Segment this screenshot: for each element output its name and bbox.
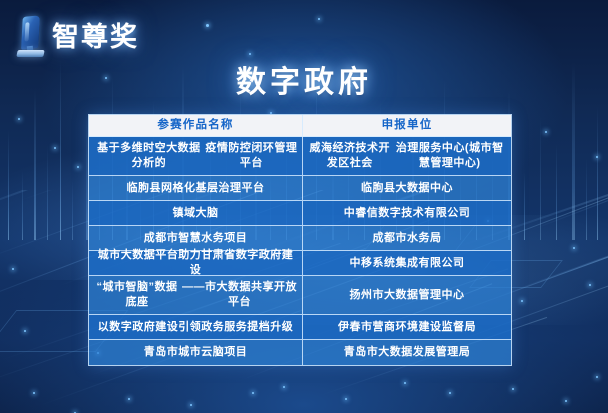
declaring-unit-text: 成都市水务局 [373,231,442,246]
cell-declaring-unit: 成都市水务局 [303,226,511,251]
work-name-text-line2: ——市大数据共享开放平台 [181,280,298,310]
work-name-text: 成都市智慧水务项目 [144,231,248,246]
table-row: 城市大数据平台助力甘肃省数字政府建设中移系统集成有限公司 [89,251,511,276]
brand-logo-text: 智尊奖 [52,24,139,51]
cell-declaring-unit: 中移系统集成有限公司 [303,251,511,276]
page-title: 数字政府 [0,57,608,101]
cell-work-name: 基于多维时空大数据分析的疫情防控闭环管理平台 [89,137,303,176]
cell-work-name: 以数字政府建设引领政务服务提档升级 [89,315,303,340]
cell-work-name: 青岛市城市云脑项目 [89,340,303,365]
declaring-unit-text: 中睿信数字技术有限公司 [344,206,471,221]
table-row: 以数字政府建设引领政务服务提档升级伊春市营商环境建设监督局 [89,315,511,340]
brand-logo: 智尊奖 [14,12,139,62]
cell-declaring-unit: 中睿信数字技术有限公司 [303,201,511,226]
declaring-unit-text: 中移系统集成有限公司 [350,256,465,271]
table-row: “城市智脑”数据底座——市大数据共享开放平台扬州市大数据管理中心 [89,276,511,315]
work-name-text: 青岛市城市云脑项目 [144,345,248,360]
work-name-text: 以数字政府建设引领政务服务提档升级 [98,320,294,335]
declaring-unit-text: 临朐县大数据中心 [361,181,453,196]
cell-declaring-unit: 扬州市大数据管理中心 [303,276,511,315]
table-header-row: 参赛作品名称 申报单位 [89,115,511,137]
awards-table: 参赛作品名称 申报单位 基于多维时空大数据分析的疫情防控闭环管理平台威海经济技术… [88,114,512,366]
cell-declaring-unit: 威海经济技术开发区社会治理服务中心(城市智慧管理中心) [303,137,511,176]
declaring-unit-text: 扬州市大数据管理中心 [350,288,465,303]
cell-declaring-unit: 临朐县大数据中心 [303,176,511,201]
declaring-unit-text-line2: 治理服务中心(城市智慧管理中心) [393,141,507,171]
cell-work-name: “城市智脑”数据底座——市大数据共享开放平台 [89,276,303,315]
table-row: 临朐县网格化基层治理平台临朐县大数据中心 [89,176,511,201]
declaring-unit-text: 伊春市营商环境建设监督局 [338,320,476,335]
cell-work-name: 镇域大脑 [89,201,303,226]
cell-work-name: 城市大数据平台助力甘肃省数字政府建设 [89,251,303,276]
table-body: 基于多维时空大数据分析的疫情防控闭环管理平台威海经济技术开发区社会治理服务中心(… [89,137,511,365]
trophy-icon [14,14,48,60]
work-name-text-line2: 疫情防控闭环管理平台 [205,141,298,171]
declaring-unit-text: 青岛市大数据发展管理局 [344,345,471,360]
work-name-text: “城市智脑”数据底座 [93,280,181,310]
table-row: 镇域大脑中睿信数字技术有限公司 [89,201,511,226]
cell-declaring-unit: 青岛市大数据发展管理局 [303,340,511,365]
table-row: 青岛市城市云脑项目青岛市大数据发展管理局 [89,340,511,365]
column-header-work-name: 参赛作品名称 [89,115,303,137]
cell-declaring-unit: 伊春市营商环境建设监督局 [303,315,511,340]
work-name-text: 临朐县网格化基层治理平台 [127,181,265,196]
work-name-text: 基于多维时空大数据分析的 [93,141,205,171]
work-name-text: 镇域大脑 [173,206,219,221]
work-name-text: 城市大数据平台助力甘肃省数字政府建设 [93,248,298,278]
table-row: 基于多维时空大数据分析的疫情防控闭环管理平台威海经济技术开发区社会治理服务中心(… [89,137,511,176]
column-header-declaring-unit: 申报单位 [303,115,511,137]
slide-canvas: 智尊奖 数字政府 参赛作品名称 申报单位 基于多维时空大数据分析的疫情防控闭环管… [0,0,608,413]
declaring-unit-text: 威海经济技术开发区社会 [307,141,393,171]
cell-work-name: 临朐县网格化基层治理平台 [89,176,303,201]
